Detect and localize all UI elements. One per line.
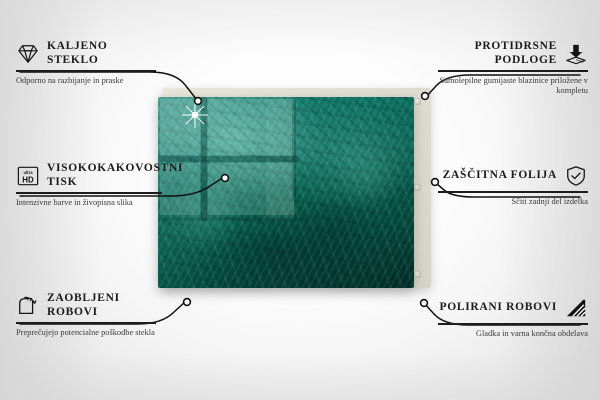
feature-divider [438,323,588,325]
feature-polirani-robovi[interactable]: POLIRANI ROBOVI Gladka in varna končna o… [438,296,588,339]
feature-divider [438,70,588,72]
glass-sheen [158,97,414,288]
rubber-pad [414,98,421,105]
feature-title: KALJENO STEKLO [47,40,156,67]
leader-dot [421,300,428,307]
feature-divider [16,192,162,194]
feature-divider [16,70,156,72]
feature-title: POLIRANI ROBOVI [439,301,557,315]
feature-description: Odporno na razbijanje in praske [16,76,156,87]
rubber-pad [414,271,421,278]
feature-description: Samolepilne gumijaste blazinice priložen… [438,76,588,97]
feature-kaljeno-steklo[interactable]: KALJENO STEKLO Odporno na razbijanje in … [16,40,156,86]
anti-slip-pad-icon [564,42,588,66]
feature-description: Intenzivne barve in živopisna slika [16,198,162,209]
feature-protidrsne-podloge[interactable]: PROTIDRSNE PODLOGE Samolepilne gumijaste… [438,40,588,97]
feature-title: PROTIDRSNE PODLOGE [438,40,557,67]
ultra-hd-icon: ultra HD [16,164,40,188]
rounded-corner-icon [16,294,40,318]
polished-edge-icon [564,296,588,320]
feature-title: ZAŠČITNA FOLIJA [443,169,557,183]
feature-divider [16,322,156,324]
svg-text:HD: HD [22,175,34,184]
feature-description: Preprečujejo potencialne poškodbe stekla [16,328,156,339]
rubber-pad [414,184,421,191]
leader-dot [184,299,191,306]
svg-text:ultra: ultra [23,170,33,175]
feature-description: Gladka in varna končna obdelava [438,329,588,340]
feature-divider [438,191,588,193]
diamond-icon [16,42,40,66]
feature-description: Ščiti zadnji del izdelka [438,197,588,208]
feature-title: VISOKOKAKOVOSTNI TISK [47,162,183,189]
shield-check-icon [564,164,588,188]
feature-title: ZAOBLJENI ROBOVI [47,292,156,319]
tempered-glass-panel [158,97,414,288]
product-image [163,88,431,288]
feature-zaobljeni-robovi[interactable]: ZAOBLJENI ROBOVI Preprečujejo potencialn… [16,292,156,338]
feature-zascitna-folija[interactable]: ZAŠČITNA FOLIJA Ščiti zadnji del izdelka [438,164,588,207]
infographic-canvas: KALJENO STEKLO Odporno na razbijanje in … [0,0,600,400]
feature-visokokakovostni-tisk[interactable]: ultra HD VISOKOKAKOVOSTNI TISK Intenzivn… [16,162,162,208]
